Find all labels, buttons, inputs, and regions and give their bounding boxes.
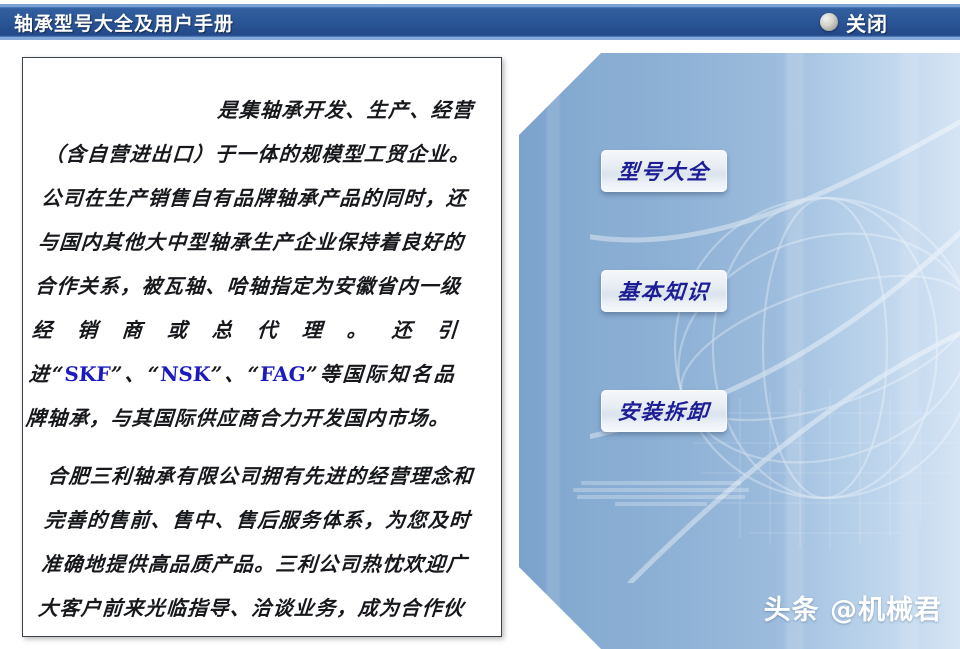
menu-button-label: 型号大全 <box>617 156 712 186</box>
document-paragraph: 合肥三利轴承有限公司拥有先进的经营理念和完善的售前、售中、售后服务体系，为您及时… <box>34 454 475 636</box>
document-page: 是集轴承开发、生产、经营（含自营进出口）于一体的规模型工贸企业。公司在生产销售自… <box>22 57 502 637</box>
menu-button-install-remove[interactable]: 安装拆卸 <box>601 390 727 432</box>
close-button[interactable]: 关闭 <box>820 8 960 37</box>
paragraph-text: ”、“ <box>110 362 161 386</box>
close-button-label: 关闭 <box>846 8 888 37</box>
page-title: 轴承型号大全及用户手册 <box>0 9 234 36</box>
sphere-icon <box>820 13 838 31</box>
paragraph-text: ”、“ <box>210 362 261 386</box>
title-bar: 轴承型号大全及用户手册 关闭 <box>0 4 960 40</box>
brand-name: NSK <box>159 362 211 386</box>
menu-button-model-catalog[interactable]: 型号大全 <box>601 150 727 192</box>
brand-name: SKF <box>64 362 112 386</box>
menu-button-label: 基本知识 <box>617 276 712 306</box>
brand-name: FAG <box>259 362 306 386</box>
panel-faint-watermark <box>571 467 751 519</box>
document-body: 是集轴承开发、生产、经营（含自营进出口）于一体的规模型工贸企业。公司在生产销售自… <box>23 58 501 636</box>
menu-panel: 型号大全 基本知识 安装拆卸 <box>519 53 960 649</box>
paragraph-text: 合肥三利轴承有限公司拥有先进的经营理念和完善的售前、售中、售后服务体系，为您及时… <box>34 464 474 636</box>
paragraph-text: 是集轴承开发、生产、经营（含自营进出口）于一体的规模型工贸企业。公司在生产销售自… <box>28 98 474 386</box>
app-window: 轴承型号大全及用户手册 关闭 是集轴承开发、生产、经营（含自营进出口）于一体的规… <box>0 0 960 649</box>
menu-button-label: 安装拆卸 <box>617 396 712 426</box>
menu-button-basic-knowledge[interactable]: 基本知识 <box>601 270 727 312</box>
panel-light-bands <box>519 53 960 649</box>
document-paragraph: 是集轴承开发、生产、经营（含自营进出口）于一体的规模型工贸企业。公司在生产销售自… <box>24 88 475 440</box>
